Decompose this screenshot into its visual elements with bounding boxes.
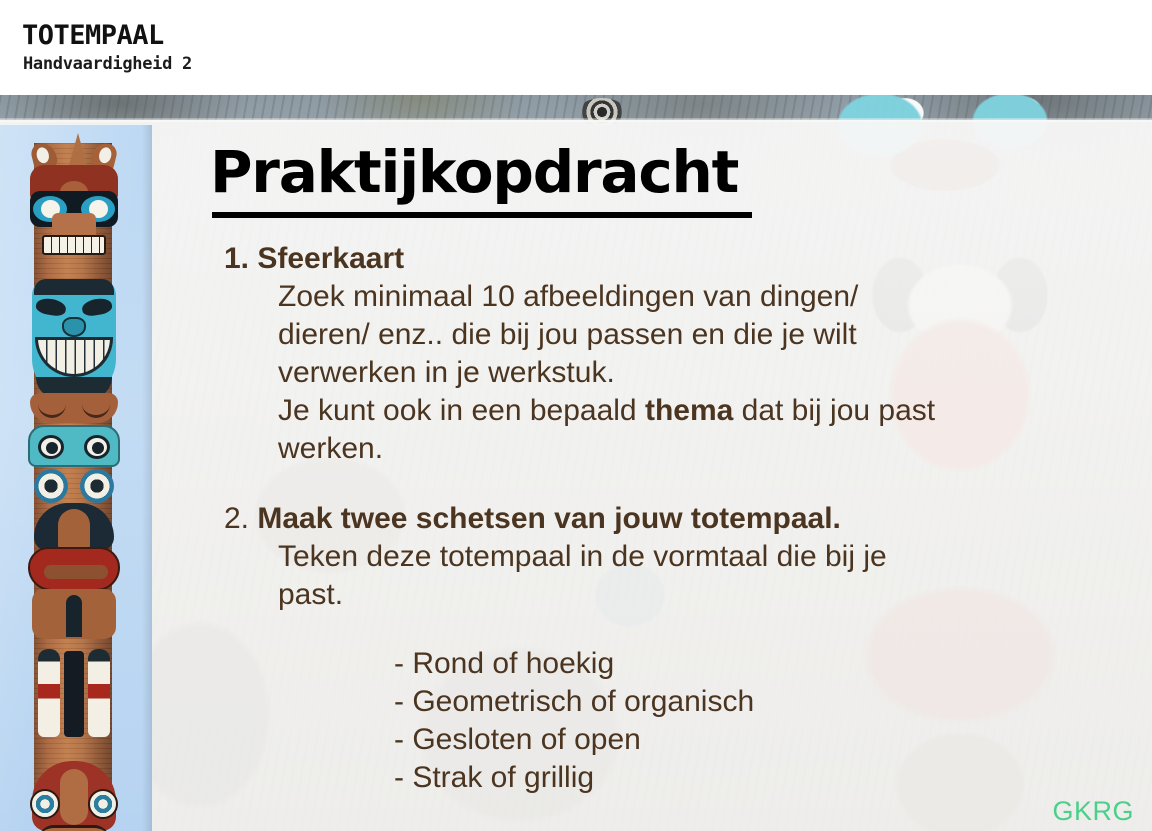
page-title: Praktijkopdracht (210, 143, 738, 202)
list-item: 1. Sfeerkaart Zoek minimaal 10 afbeeldin… (224, 240, 1144, 468)
totem-feather-right (88, 649, 110, 737)
left-photo-edge-shadow (142, 125, 152, 831)
item-one-line-4-pre: Je kunt ook in een bepaald (278, 394, 645, 427)
totem-head-three-eye-right (84, 435, 110, 459)
totem-head-two-brow (34, 279, 114, 295)
item-two-line-1: Teken deze totempaal in de vormtaal die … (278, 538, 1144, 576)
item-one-line-3: verwerken in je werkstuk. (278, 354, 1144, 392)
item-one-heading: 1. Sfeerkaart (224, 240, 1144, 278)
totem-feather-left (38, 649, 60, 737)
item-one-number: 1. (224, 242, 249, 275)
totem-torso (30, 645, 118, 765)
totem-head-one (30, 165, 118, 273)
item-one-line-4-post: dat bij jou past (733, 394, 935, 427)
totem-head-three-ring-left (34, 469, 68, 503)
sub-bullet-list: - Rond of hoekig - Geometrisch of organi… (394, 645, 754, 797)
header-title: TOTEMPAAL (22, 22, 164, 49)
totem-head-one-teeth (42, 235, 106, 255)
item-two-number: 2. (224, 502, 249, 535)
sub-list-item: - Rond of hoekig (394, 645, 754, 683)
item-one-line-4-emphasis: thema (645, 394, 733, 427)
slide: TOTEMPAAL Handvaardigheid 2 Praktijkopdr… (0, 0, 1152, 831)
totem-head-three-eye-left (38, 435, 64, 459)
totem-head-two-arms (30, 393, 118, 423)
item-two-label: Maak twee schetsen van jouw totempaal. (257, 502, 841, 535)
totem-horn (68, 133, 88, 169)
totem-head-four-chin (32, 589, 116, 639)
item-one-line-1: Zoek minimaal 10 afbeeldingen van dingen… (278, 278, 1144, 316)
item-two-line-2: past. (278, 576, 1144, 614)
totem-head-four-lips (28, 547, 120, 591)
list-item: 2. Maak twee schetsen van jouw totempaal… (224, 500, 1144, 614)
item-two-heading: 2. Maak twee schetsen van jouw totempaal… (224, 500, 1144, 538)
totem-head-two-nose (62, 317, 86, 337)
left-totem-photo (0, 125, 152, 831)
totem-head-two (28, 273, 120, 423)
page-title-underline (212, 212, 752, 218)
background-overlay-edge (0, 118, 1152, 122)
sub-list-item: - Geometrisch of organisch (394, 683, 754, 721)
item-one-line-4: Je kunt ook in een bepaald thema dat bij… (278, 392, 1144, 430)
sub-list-item: - Gesloten of open (394, 721, 754, 759)
item-one-label: Sfeerkaart (257, 242, 404, 275)
header-subtitle: Handvaardigheid 2 (23, 56, 192, 73)
slide-header-bar: TOTEMPAAL Handvaardigheid 2 (0, 0, 1152, 95)
totem-torso-slot (64, 651, 84, 737)
item-one-line-5: werken. (278, 430, 1144, 468)
totem-rock-base (0, 791, 152, 831)
sub-list-item: - Strak of grillig (394, 759, 754, 797)
totem-head-three (28, 425, 120, 505)
totem-head-three-ring-right (80, 469, 114, 503)
item-one-line-2: dieren/ enz.. die bij jou passen en die … (278, 316, 1144, 354)
watermark-label: GKRG (1052, 796, 1134, 827)
totem-head-four (26, 503, 122, 653)
totem-head-four-hood (34, 503, 114, 551)
